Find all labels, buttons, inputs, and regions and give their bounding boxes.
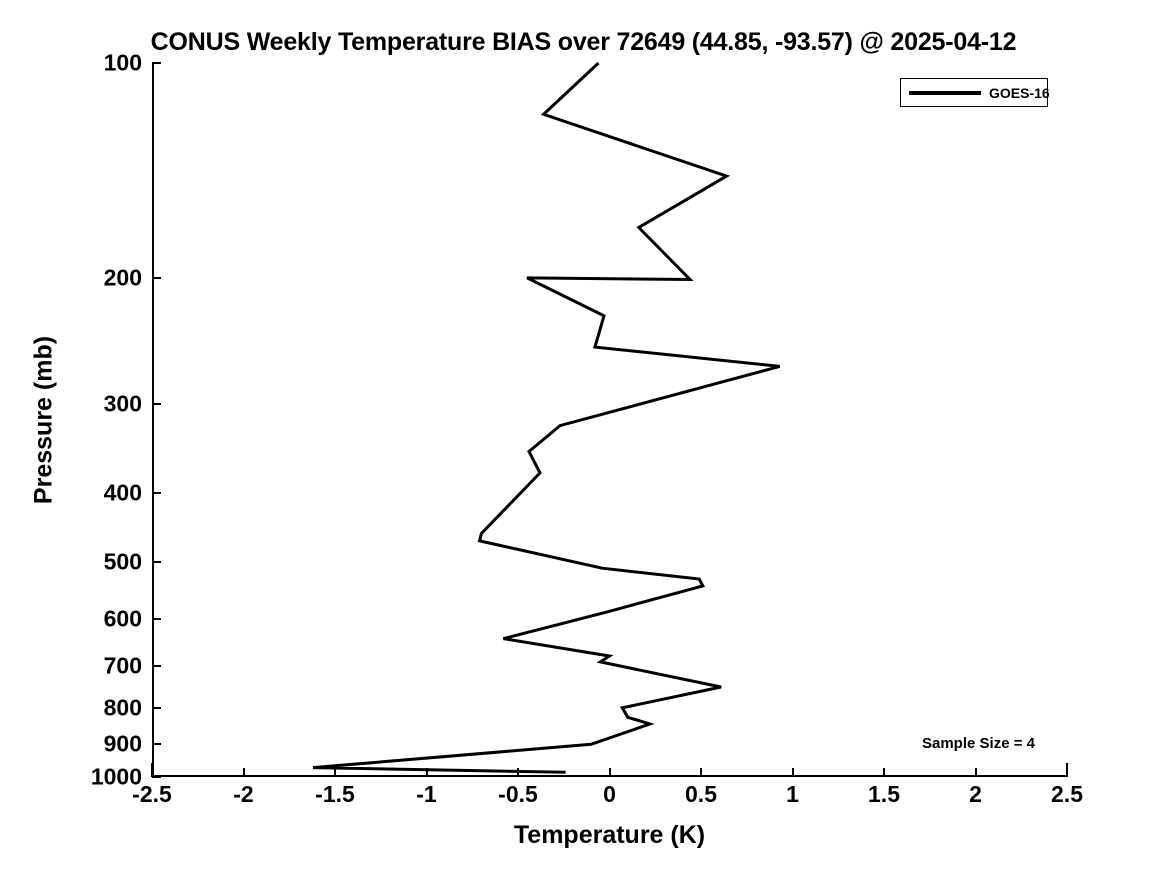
- x-tick-label: -1.5: [315, 781, 355, 808]
- x-tick-label: 0.5: [685, 781, 717, 808]
- y-tick-label: 400: [104, 479, 142, 506]
- data-series-plot: [152, 63, 1067, 777]
- y-tick-label: 300: [104, 390, 142, 417]
- x-tick-label: -2: [233, 781, 253, 808]
- sample-size-annotation: Sample Size = 4: [922, 735, 1035, 752]
- y-tick-label: 100: [104, 50, 142, 77]
- y-tick-label: 800: [104, 694, 142, 721]
- y-tick-label: 500: [104, 549, 142, 576]
- x-tick-label: 0: [603, 781, 616, 808]
- y-axis-label: Pressure (mb): [30, 336, 59, 504]
- x-tick-label: 1: [786, 781, 799, 808]
- x-tick-label: -0.5: [498, 781, 538, 808]
- legend: GOES-16: [900, 78, 1048, 107]
- plot-area: -2.5-2-1.5-1-0.500.511.522.5 10020030040…: [152, 63, 1067, 777]
- series-line-goes-16: [313, 63, 780, 772]
- chart-figure: CONUS Weekly Temperature BIAS over 72649…: [0, 0, 1167, 875]
- y-tick-label: 900: [104, 731, 142, 758]
- y-tick-label: 600: [104, 605, 142, 632]
- legend-swatch-goes-16: [909, 91, 981, 95]
- x-axis-label: Temperature (K): [152, 821, 1067, 850]
- x-tick-label: 2.5: [1051, 781, 1083, 808]
- x-tick-label: -1: [416, 781, 436, 808]
- page-title: CONUS Weekly Temperature BIAS over 72649…: [0, 28, 1167, 57]
- y-tick-label: 700: [104, 653, 142, 680]
- y-tick-label: 1000: [91, 764, 142, 791]
- y-tick-label: 200: [104, 264, 142, 291]
- x-tick-label: 2: [969, 781, 982, 808]
- x-tick-label: 1.5: [868, 781, 900, 808]
- legend-label-goes-16: GOES-16: [989, 85, 1050, 101]
